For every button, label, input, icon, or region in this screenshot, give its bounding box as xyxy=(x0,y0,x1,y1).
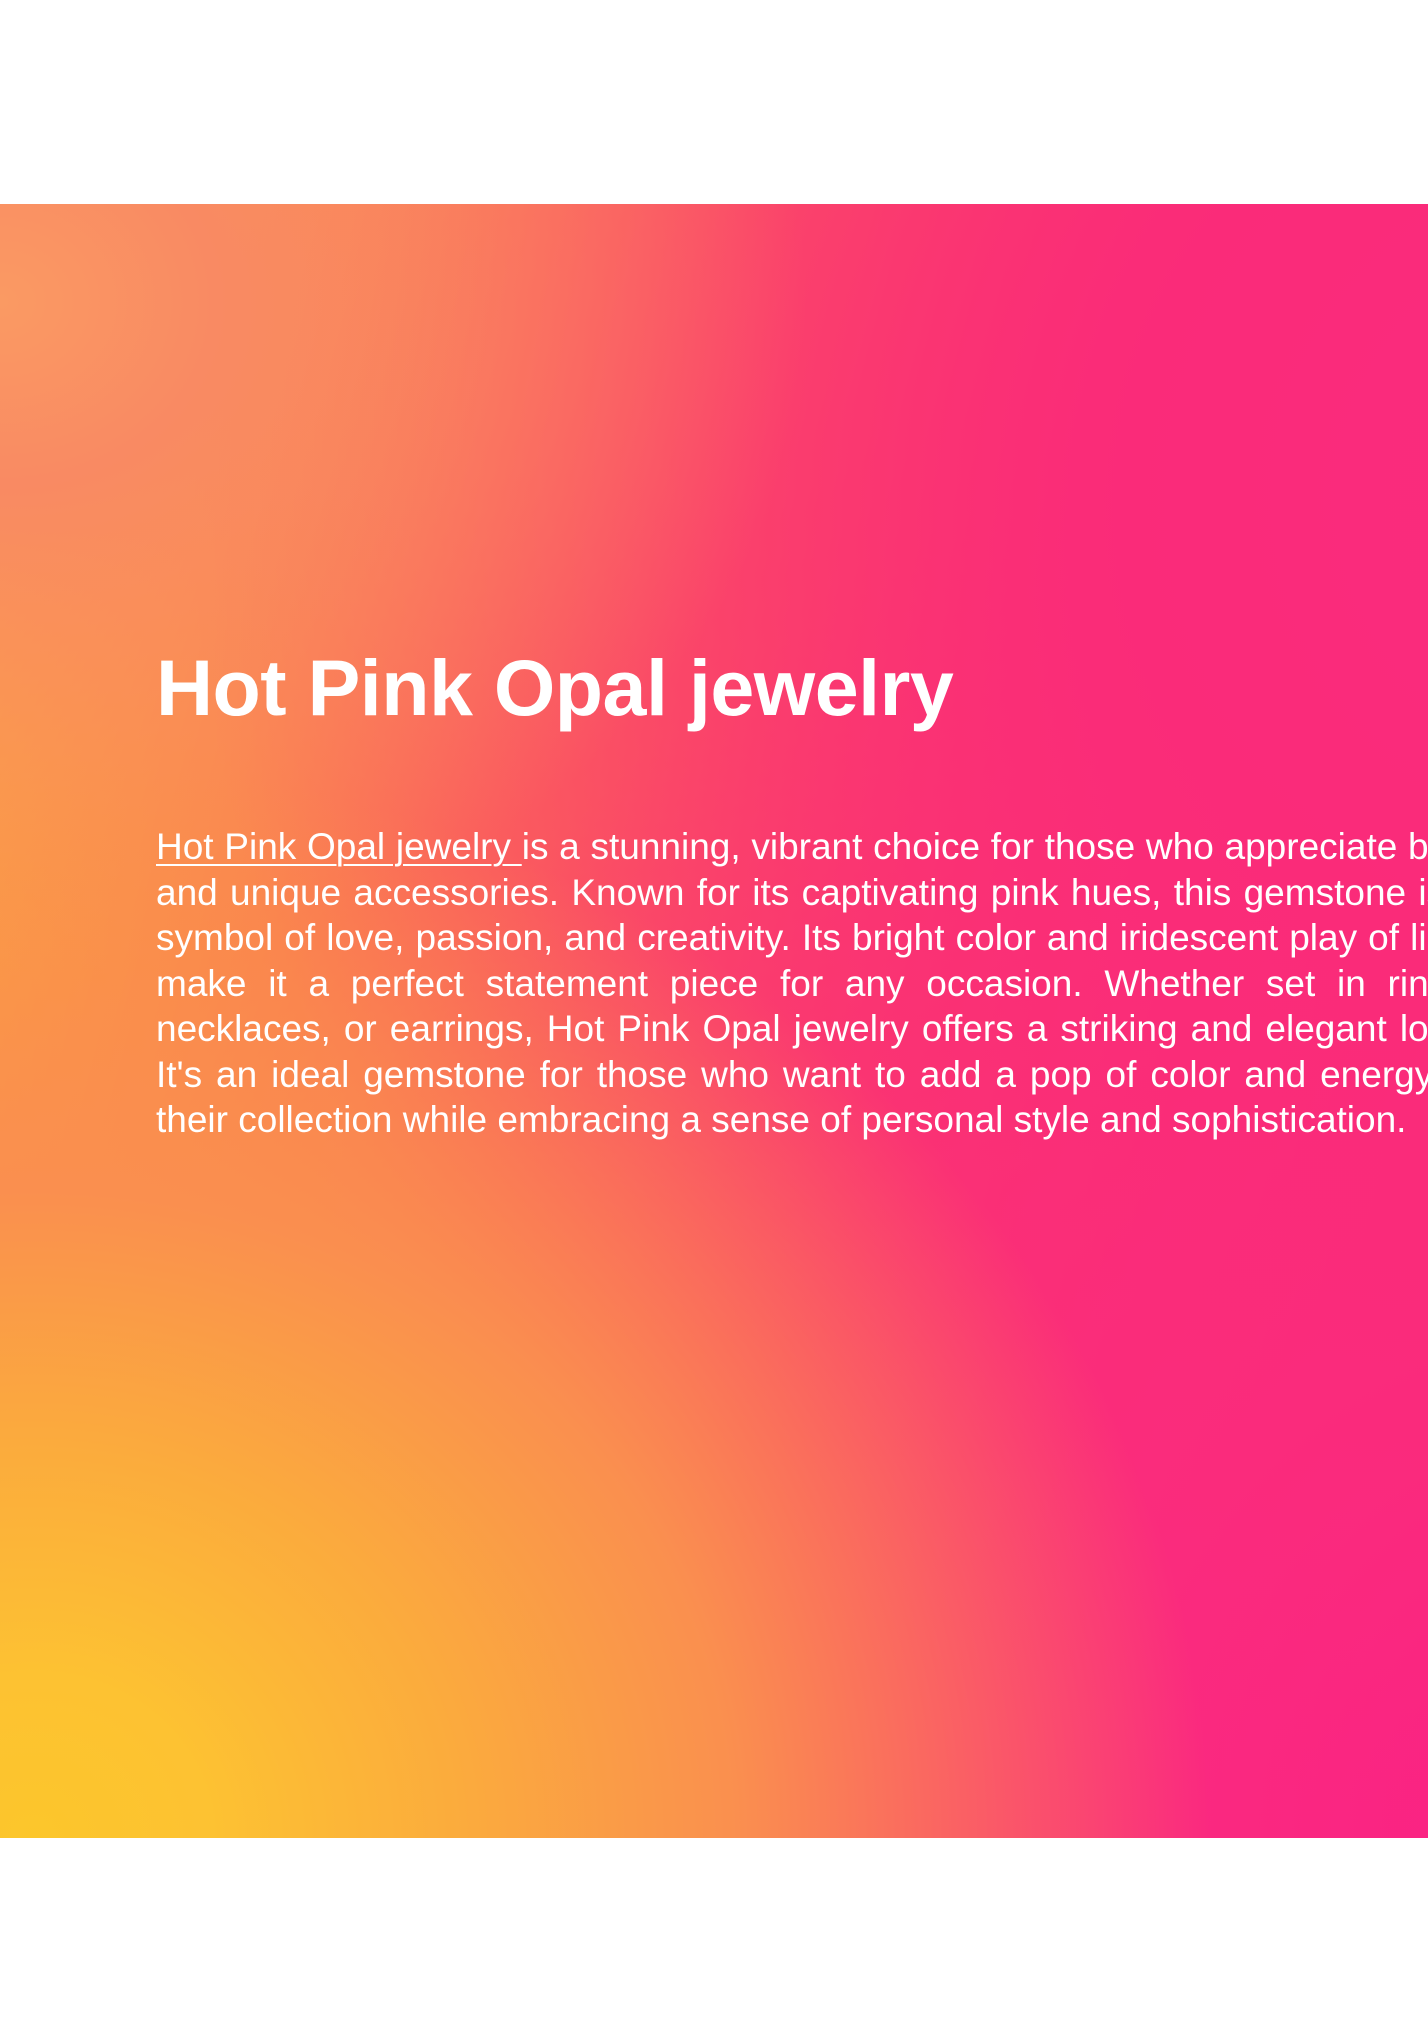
hot-pink-opal-jewelry-link[interactable]: Hot Pink Opal jewelry xyxy=(156,826,522,867)
body-paragraph: Hot Pink Opal jewelry is a stunning, vib… xyxy=(156,824,1428,1143)
body-paragraph-text: is a stunning, vibrant choice for those … xyxy=(156,826,1428,1140)
gradient-artwork-panel: Hot Pink Opal jewelry Hot Pink Opal jewe… xyxy=(0,204,1428,1838)
page-title: Hot Pink Opal jewelry xyxy=(156,648,1428,727)
